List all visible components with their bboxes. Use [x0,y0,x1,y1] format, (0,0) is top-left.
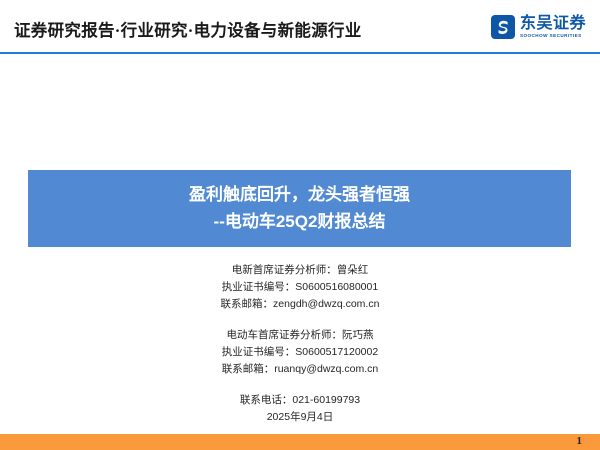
page-title: 盈利触底回升，龙头强者恒强 [189,182,410,208]
contact-phone: 联系电话：021-60199793 [0,392,600,409]
analyst-role-name: 电动车首席证券分析师：阮巧燕 [0,327,600,344]
soochow-swoosh-icon [491,15,515,39]
analyst-email: 联系邮箱：zengdh@dwzq.com.cn [0,296,600,313]
analyst-entry-1: 电新首席证券分析师：曾朵红 执业证书编号：S0600516080001 联系邮箱… [0,262,600,313]
report-date: 2025年9月4日 [0,409,600,426]
logo-chinese-name: 东吴证券 [520,16,586,32]
breadcrumb: 证券研究报告·行业研究·电力设备与新能源行业 [14,17,362,41]
analyst-info-block: 电新首席证券分析师：曾朵红 执业证书编号：S0600516080001 联系邮箱… [0,262,600,426]
footer-bar [0,434,600,450]
analyst-role-name: 电新首席证券分析师：曾朵红 [0,262,600,279]
analyst-email: 联系邮箱：ruanqy@dwzq.com.cn [0,361,600,378]
analyst-license-number: 执业证书编号：S0600517120002 [0,344,600,361]
analyst-entry-2: 电动车首席证券分析师：阮巧燕 执业证书编号：S0600517120002 联系邮… [0,327,600,378]
logo-english-name: SOOCHOW SECURITIES [520,34,582,39]
logo-wordmark: 东吴证券 SOOCHOW SECURITIES [520,16,586,39]
company-logo: 东吴证券 SOOCHOW SECURITIES [491,15,586,39]
page-header: 证券研究报告·行业研究·电力设备与新能源行业 东吴证券 SOOCHOW SECU… [0,0,600,53]
title-banner: 盈利触底回升，龙头强者恒强 --电动车25Q2财报总结 [28,170,571,247]
page-subtitle: --电动车25Q2财报总结 [214,209,386,235]
analyst-license-number: 执业证书编号：S0600516080001 [0,279,600,296]
report-cover-page: 证券研究报告·行业研究·电力设备与新能源行业 东吴证券 SOOCHOW SECU… [0,0,600,450]
page-number: 1 [577,433,583,449]
contact-entry: 联系电话：021-60199793 2025年9月4日 [0,392,600,426]
header-divider [0,52,600,54]
